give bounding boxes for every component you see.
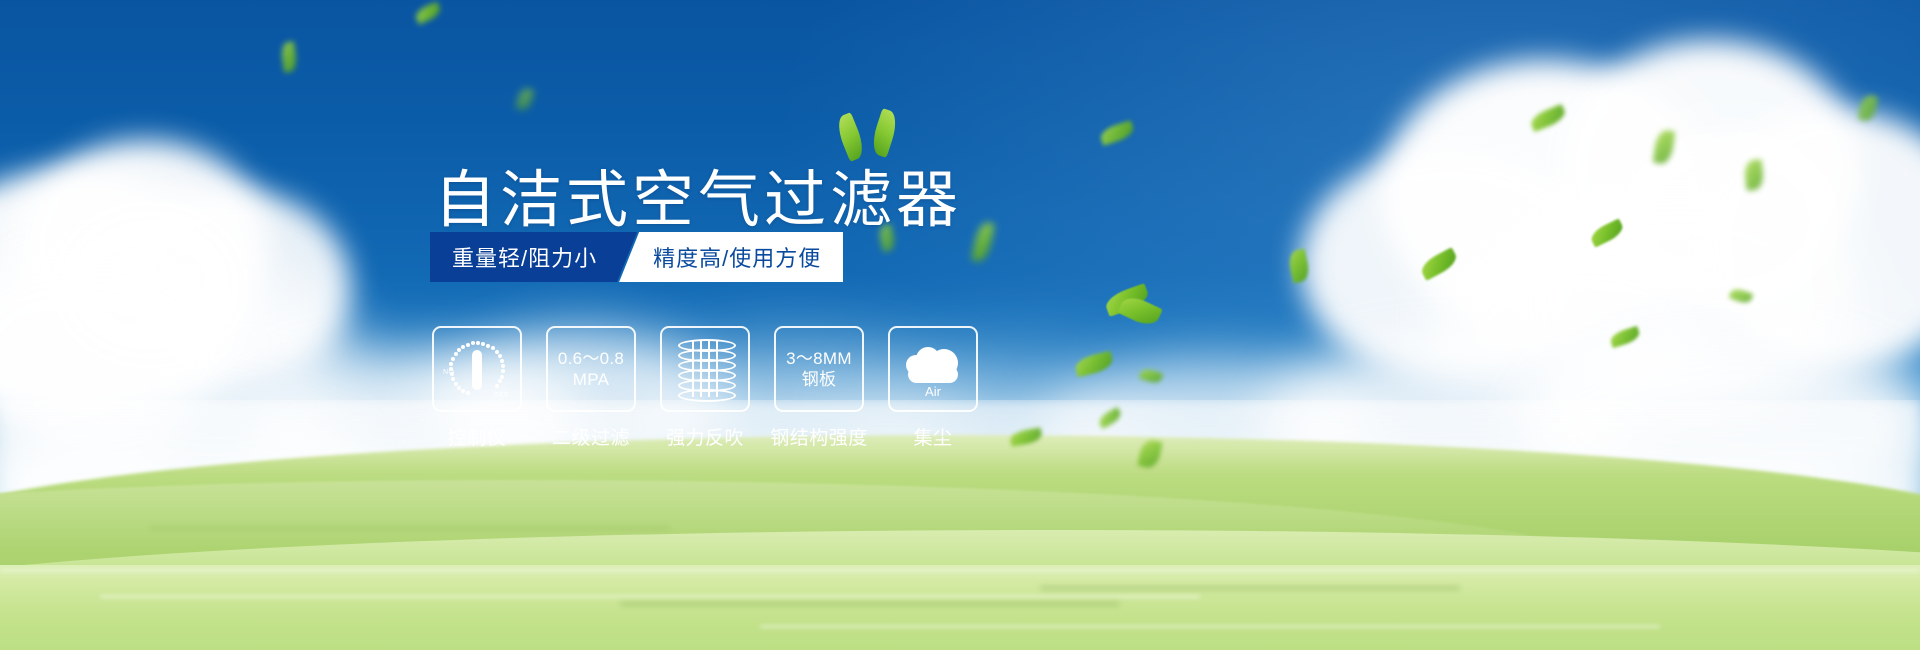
feature-label: 控制仪	[448, 423, 507, 450]
coil-bar	[700, 341, 702, 397]
coil-bar	[716, 341, 718, 397]
coil-bar	[692, 341, 694, 397]
page-title: 自洁式空气过滤器	[434, 170, 962, 232]
pressure-text-icon: 0.6～0.8 MPA	[558, 348, 624, 391]
pressure-unit: MPA	[558, 369, 624, 390]
gauge-tick	[481, 342, 485, 346]
gauge-tick	[501, 369, 505, 373]
gauge-tick	[461, 389, 465, 393]
gauge-off-label: OFF	[494, 392, 510, 399]
gauge-tick	[471, 341, 475, 345]
air-label: Air	[900, 384, 966, 399]
gauge-tick	[486, 344, 490, 348]
gauge-tick	[451, 357, 455, 361]
hero-banner: 自洁式空气过滤器 重量轻/阻力小 精度高/使用方便 NO OFF 控制仪	[0, 0, 1920, 650]
banner-content: 自洁式空气过滤器 重量轻/阻力小 精度高/使用方便 NO OFF 控制仪	[0, 0, 1920, 650]
feature-icon-box: NO OFF	[432, 326, 522, 412]
feature-item-backblow[interactable]: 强力反吹	[662, 326, 748, 450]
steel-thickness: 3～8MM	[786, 348, 852, 369]
gauge-tick	[498, 379, 502, 383]
gauge-tick	[500, 375, 504, 379]
tagline-badges: 重量轻/阻力小 精度高/使用方便	[430, 232, 843, 282]
gauge-tick	[454, 352, 458, 356]
feature-item-dust[interactable]: Air 集尘	[890, 326, 976, 450]
gauge-tick	[461, 345, 465, 349]
gauge-needle	[472, 350, 482, 390]
feature-label: 钢结构强度	[770, 423, 868, 450]
coil-ring	[678, 389, 736, 402]
coil-bar	[708, 341, 710, 397]
steel-material: 钢板	[786, 369, 852, 390]
feature-item-steel[interactable]: 3～8MM 钢板 钢结构强度	[776, 326, 862, 450]
gauge-tick	[451, 377, 455, 381]
gauge-dial-icon: NO OFF	[443, 337, 511, 401]
gauge-tick	[457, 348, 461, 352]
gauge-tick	[466, 391, 470, 395]
leaf-sprout-icon	[835, 106, 915, 164]
gauge-on-label: NO	[443, 369, 455, 376]
steel-plate-text-icon: 3～8MM 钢板	[786, 348, 852, 391]
gauge-tick	[501, 364, 505, 368]
badge-primary[interactable]: 重量轻/阻力小	[430, 232, 637, 282]
filter-coil-icon	[678, 339, 732, 399]
feature-item-pressure[interactable]: 0.6～0.8 MPA 二级过滤	[548, 326, 634, 450]
feature-icon-row: NO OFF 控制仪 0.6～0.8 MPA 二级过滤	[434, 326, 976, 450]
gauge-tick	[491, 346, 495, 350]
feature-icon-box: 0.6～0.8 MPA	[546, 326, 636, 412]
feature-item-controller[interactable]: NO OFF 控制仪	[434, 326, 520, 450]
badge-secondary[interactable]: 精度高/使用方便	[619, 232, 843, 282]
feature-label: 集尘	[913, 423, 952, 450]
feature-icon-box: 3～8MM 钢板	[774, 326, 864, 412]
feature-icon-box: Air	[888, 326, 978, 412]
gauge-tick	[498, 354, 502, 358]
gauge-tick	[449, 362, 453, 366]
gauge-tick	[495, 384, 499, 388]
feature-label: 强力反吹	[666, 423, 744, 450]
pressure-range: 0.6～0.8	[558, 348, 624, 369]
feature-icon-box	[660, 326, 750, 412]
sprout-leaf-right	[868, 108, 900, 158]
cloud-base	[908, 366, 958, 383]
gauge-tick	[495, 350, 499, 354]
sprout-leaf-left	[833, 112, 868, 162]
gauge-tick	[500, 359, 504, 363]
gauge-tick	[476, 341, 480, 345]
air-cloud-icon: Air	[900, 341, 966, 397]
feature-label: 二级过滤	[552, 423, 630, 450]
gauge-tick	[466, 343, 470, 347]
